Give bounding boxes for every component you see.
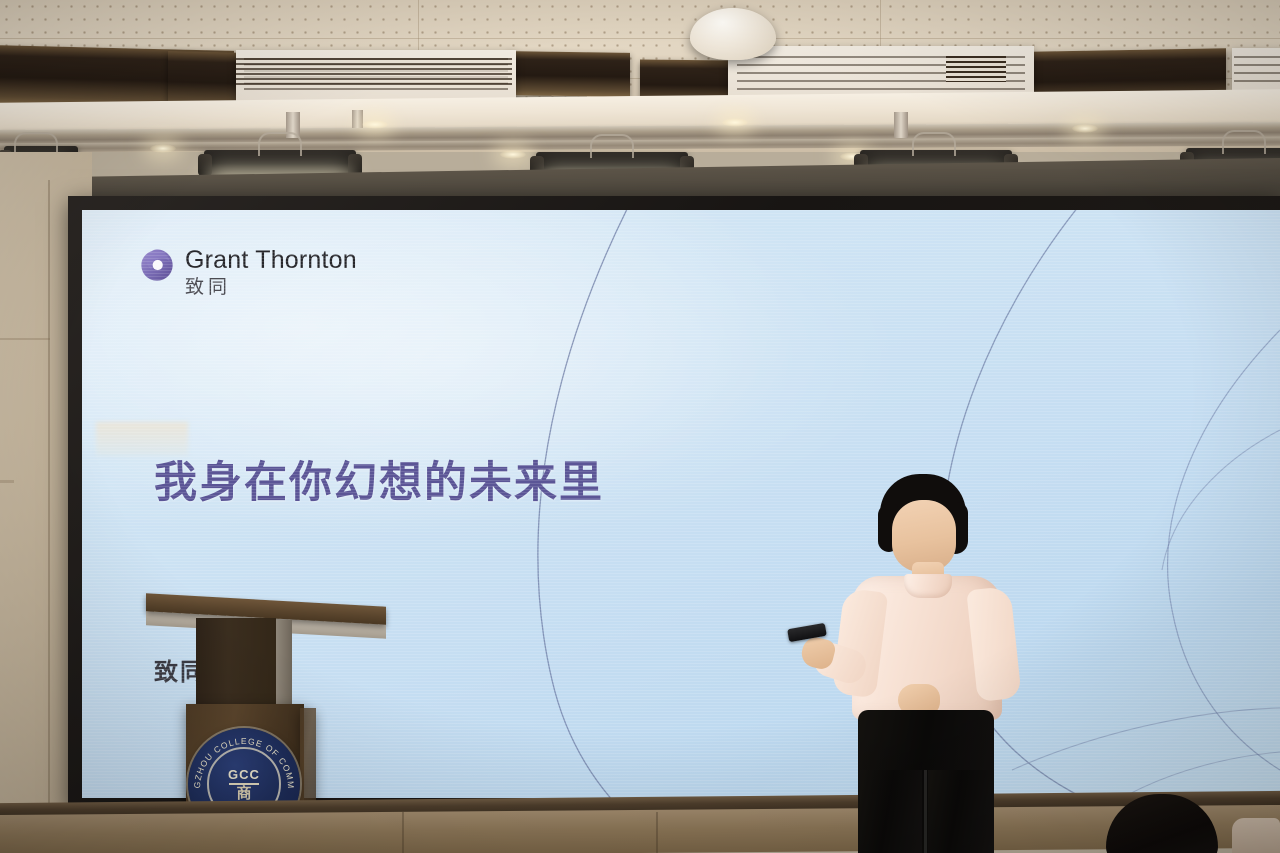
slide-title: 我身在你幻想的未来里 bbox=[154, 448, 604, 510]
ac-vent-grille bbox=[946, 56, 1006, 82]
stage-light-yoke bbox=[590, 134, 634, 158]
ceiling-downlight bbox=[500, 150, 526, 159]
wall-seam bbox=[48, 180, 50, 853]
audience-member-shoulder bbox=[1232, 818, 1280, 853]
ceiling-wood-panel bbox=[508, 51, 630, 97]
brand-name: Grant Thornton bbox=[185, 248, 357, 273]
presenter-trouser-leg bbox=[928, 770, 990, 853]
presenter-trouser-leg bbox=[860, 770, 922, 853]
ceiling-dome-speaker bbox=[690, 8, 776, 60]
stage-light-yoke bbox=[258, 132, 302, 156]
emblem-monogram: GCC bbox=[228, 768, 260, 781]
truss-drop-pipe bbox=[894, 112, 908, 138]
floor-tile-line bbox=[656, 812, 658, 853]
photo-scene: Grant Thornton 致同 我身在你幻想的未来里 致同 GUANG bbox=[0, 0, 1280, 853]
grant-thornton-logo: Grant Thornton 致同 bbox=[140, 248, 357, 297]
presenter-collar bbox=[904, 574, 952, 598]
wall-panel-line bbox=[0, 480, 14, 483]
floor-tile-line bbox=[402, 812, 404, 853]
presenter-trouser-crease bbox=[924, 770, 927, 853]
ceiling-downlight bbox=[1072, 124, 1098, 133]
ac-vent-grille bbox=[236, 58, 512, 88]
presenter bbox=[780, 470, 1070, 853]
grant-thornton-swirl-icon bbox=[140, 248, 174, 282]
stage-light-yoke bbox=[1222, 130, 1266, 154]
brand-name-cn: 致同 bbox=[185, 278, 357, 297]
ceiling-downlight bbox=[362, 120, 388, 129]
ceiling-downlight bbox=[722, 118, 748, 127]
ceiling-downlight bbox=[150, 144, 176, 153]
ceiling-tile-seam bbox=[0, 38, 1280, 39]
wall-panel-line bbox=[0, 338, 50, 340]
stage-light-yoke bbox=[912, 132, 956, 156]
